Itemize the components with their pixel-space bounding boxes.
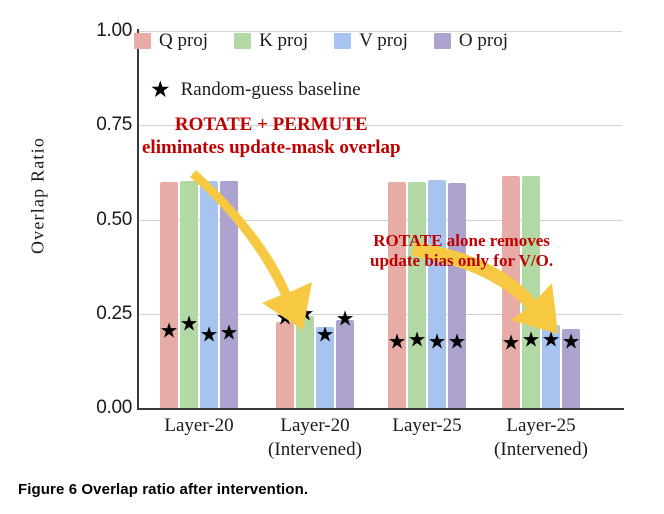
y-tick-label: 0.25 <box>64 303 132 325</box>
bar-o-proj-group-4 <box>562 329 580 408</box>
bar-v-proj-group-2 <box>316 327 334 408</box>
x-axis-line <box>137 408 624 410</box>
legend-label-baseline: Random-guess baseline <box>181 79 361 101</box>
legend-label-q-proj: Q proj <box>159 30 208 52</box>
annotation-rotate-permute-line1: ROTATE + PERMUTE <box>175 114 368 135</box>
y-tick-label: 1.00 <box>64 20 132 42</box>
legend-label-v-proj: V proj <box>359 30 408 52</box>
legend-swatch-k-proj <box>234 33 251 49</box>
legend-item-v-proj[interactable]: V proj <box>334 30 408 52</box>
x-category-line2: (Intervened) <box>240 438 390 462</box>
bar-q-proj-group-2 <box>276 322 294 408</box>
bar-q-proj-group-3 <box>388 182 406 408</box>
annotation-rotate-permute: ROTATE + PERMUTE eliminates update-mask … <box>142 114 401 160</box>
figure-container: 1.00 0.75 0.50 0.25 0.00 Overlap Ratio ★… <box>0 0 664 514</box>
legend-item-o-proj[interactable]: O proj <box>434 30 508 52</box>
legend-label-o-proj: O proj <box>459 30 508 52</box>
annotation-rotate-alone-line2: update bias only for V/O. <box>370 251 553 270</box>
y-tick-label: 0.75 <box>64 114 132 136</box>
bar-k-proj-group-2 <box>296 316 314 408</box>
legend-swatch-v-proj <box>334 33 351 49</box>
annotation-rotate-alone: ROTATE alone removes update bias only fo… <box>370 231 553 272</box>
annotation-rotate-alone-line1: ROTATE alone removes <box>373 231 550 250</box>
x-category-line1: Layer-25 <box>506 415 575 436</box>
bar-q-proj-group-4 <box>502 176 520 408</box>
legend-series-row: Q proj K proj V proj O proj <box>134 30 508 52</box>
x-category-line2: (Intervened) <box>466 438 616 462</box>
y-axis-ticks: 1.00 0.75 0.50 0.25 0.00 <box>54 0 132 514</box>
bar-k-proj-group-4 <box>522 176 540 408</box>
bar-v-proj-group-4 <box>542 325 560 408</box>
x-category-label-layer-25-intervened: Layer-25 (Intervened) <box>466 414 616 463</box>
legend-item-q-proj[interactable]: Q proj <box>134 30 208 52</box>
bar-v-proj-group-3 <box>428 180 446 408</box>
bar-o-proj-group-2 <box>336 320 354 408</box>
legend-swatch-q-proj <box>134 33 151 49</box>
star-icon: ★ <box>150 78 171 101</box>
x-category-line1: Layer-20 <box>164 415 233 436</box>
x-category-line1: Layer-25 <box>392 415 461 436</box>
legend-label-k-proj: K proj <box>259 30 308 52</box>
bar-v-proj-group-1 <box>200 181 218 408</box>
legend-baseline-row[interactable]: ★ Random-guess baseline <box>150 78 361 101</box>
legend-swatch-o-proj <box>434 33 451 49</box>
y-axis-title: Overlap Ratio <box>28 96 49 296</box>
bar-q-proj-group-1 <box>160 182 178 408</box>
bar-o-proj-group-1 <box>220 181 238 408</box>
y-tick-label: 0.50 <box>64 209 132 231</box>
figure-caption: Figure 6 Overlap ratio after interventio… <box>18 481 308 498</box>
bar-k-proj-group-3 <box>408 182 426 408</box>
x-category-line1: Layer-20 <box>280 415 349 436</box>
bar-k-proj-group-1 <box>180 181 198 408</box>
annotation-rotate-permute-line2: eliminates update-mask overlap <box>142 137 401 158</box>
bar-o-proj-group-3 <box>448 183 466 408</box>
y-tick-label: 0.00 <box>64 397 132 419</box>
legend-item-k-proj[interactable]: K proj <box>234 30 308 52</box>
